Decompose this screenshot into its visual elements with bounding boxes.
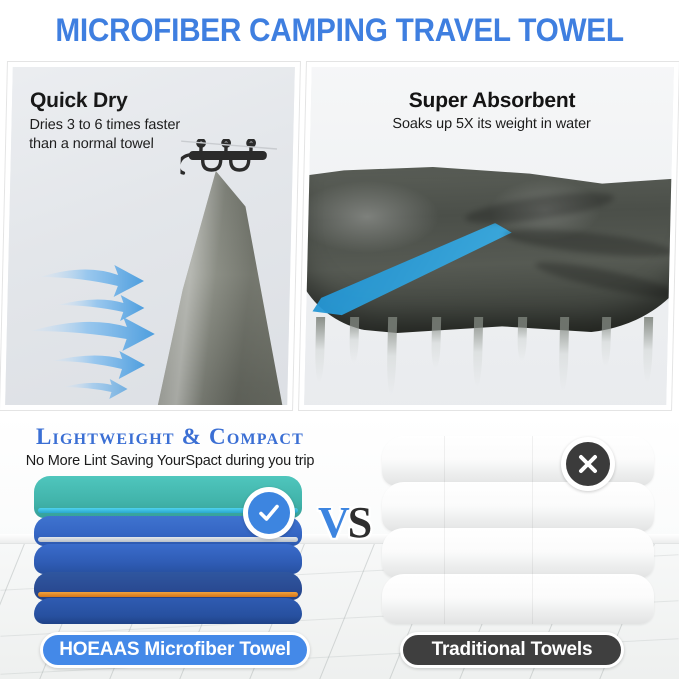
comparison-text-block: Lightweight & Compact No More Lint Savin…: [0, 424, 340, 469]
check-badge-disc: [248, 492, 290, 534]
list-item: [382, 574, 654, 624]
check-glyph: [256, 500, 282, 526]
check-circle-icon: [243, 487, 295, 539]
list-item: [34, 544, 302, 574]
quick-dry-heading: Quick Dry: [30, 89, 181, 113]
panel-super-absorbent: Super Absorbent Soaks up 5X its weight i…: [299, 62, 679, 410]
quick-dry-body-line-2: than a normal towel: [29, 135, 180, 154]
comparison-heading: Lightweight & Compact: [0, 424, 340, 450]
page-title: MICROFIBER CAMPING TRAVEL TOWEL: [55, 12, 623, 49]
super-absorbent-body: Soaks up 5X its weight in water: [310, 116, 672, 132]
water-drips: [299, 317, 679, 410]
super-absorbent-text-block: Super Absorbent Soaks up 5X its weight i…: [310, 89, 673, 132]
wet-twisted-towel-image: [299, 167, 679, 410]
quick-dry-text-block: Quick Dry Dries 3 to 6 times faster than…: [29, 89, 181, 153]
hook-rail-icon: [180, 139, 281, 179]
list-item: [382, 482, 654, 532]
page-title-bar: MICROFIBER CAMPING TRAVEL TOWEL: [0, 0, 679, 60]
quick-dry-body-line-1: Dries 3 to 6 times faster: [29, 116, 180, 135]
x-circle-icon: [561, 437, 615, 491]
airflow-arrows-icon: [17, 247, 221, 410]
versus-label: VS: [318, 497, 370, 548]
x-glyph: [575, 451, 601, 477]
comparison-subheading: No More Lint Saving YourSpact during you…: [0, 453, 340, 469]
list-item: [382, 528, 654, 578]
hoeaas-towel-label: HOEAAS Microfiber Towel: [40, 632, 310, 668]
x-badge-disc: [566, 442, 610, 486]
traditional-towels-label: Traditional Towels: [400, 632, 624, 668]
versus-v: V: [318, 498, 348, 547]
panel-quick-dry: Quick Dry Dries 3 to 6 times faster than…: [0, 62, 300, 410]
versus-s: S: [348, 498, 370, 547]
list-item: [34, 598, 302, 624]
list-item: [34, 572, 302, 600]
super-absorbent-heading: Super Absorbent: [311, 89, 674, 113]
